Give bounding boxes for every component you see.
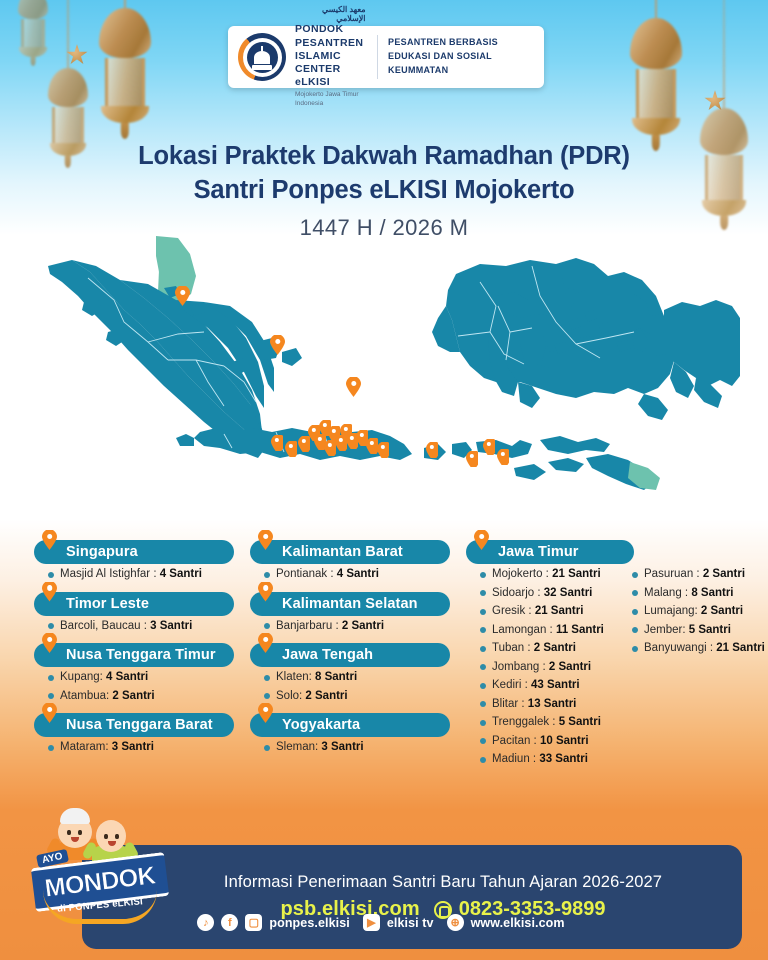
legend-group: Jawa Timur Mojokerto : 21 Santri Sidoarj… bbox=[466, 540, 738, 773]
brand-arabic: معهد الكيسي الإسلامي bbox=[295, 6, 366, 24]
item-label: Tuban : bbox=[492, 642, 534, 654]
item-label: Mojokerto : bbox=[492, 568, 552, 580]
item-label: Masjid Al Istighfar : bbox=[60, 568, 160, 580]
item-value: 13 Santri bbox=[528, 698, 577, 710]
legend-pill-label: Kalimantan Selatan bbox=[282, 596, 418, 612]
map-pin-icon bbox=[42, 703, 57, 723]
item-value: 5 Santri bbox=[689, 624, 731, 636]
item-value: 43 Santri bbox=[531, 679, 580, 691]
item-label: Sidoarjo : bbox=[492, 587, 544, 599]
legend-pill-kalimantan-selatan[interactable]: Kalimantan Selatan bbox=[250, 592, 450, 616]
instagram-handle[interactable]: ponpes.elkisi bbox=[269, 916, 350, 930]
item-label: Banyuwangi : bbox=[644, 642, 716, 654]
legend-group: Kalimantan Selatan Banjarbaru : 2 Santri bbox=[250, 592, 450, 640]
map-pin-jateng-1[interactable] bbox=[271, 435, 283, 451]
item-value: 4 Santri bbox=[337, 568, 379, 580]
map-pin-icon bbox=[42, 633, 57, 653]
jatim-right-list: Pasuruan : 2 Santri Malang : 8 Santri Lu… bbox=[632, 569, 765, 773]
map-pin-ntb-mataram[interactable] bbox=[426, 442, 438, 458]
item-value: 2 Santri bbox=[549, 661, 591, 673]
item-label: Sleman: bbox=[276, 741, 321, 753]
legend-pill-label: Timor Leste bbox=[66, 596, 149, 612]
legend-pill-label: Kalimantan Barat bbox=[282, 544, 403, 560]
youtube-handle[interactable]: elkisi tv bbox=[387, 916, 434, 930]
legend-group: Timor Leste Barcoli, Baucau : 3 Santri bbox=[34, 592, 234, 640]
legend-group: Kalimantan Barat Pontianak : 4 Santri bbox=[250, 540, 450, 588]
list-item: Klaten: 8 Santri bbox=[264, 672, 450, 691]
item-label: Lamongan : bbox=[492, 624, 556, 636]
item-value: 2 Santri bbox=[305, 690, 347, 702]
lantern-decoration bbox=[630, 18, 682, 140]
facebook-icon[interactable]: f bbox=[221, 914, 238, 931]
legend-pill-singapura[interactable]: Singapura bbox=[34, 540, 234, 564]
map-pin-icon bbox=[258, 582, 273, 602]
legend-group: Yogyakarta Sleman: 3 Santri bbox=[250, 713, 450, 761]
list-item: Mataram: 3 Santri bbox=[48, 742, 234, 761]
ayo-mondok-badge[interactable]: MONDOK AYO di PONPES eLKISI bbox=[25, 808, 175, 930]
kid-illustration-girl bbox=[91, 812, 131, 858]
item-value: 11 Santri bbox=[556, 624, 604, 636]
map-landmass bbox=[48, 236, 740, 490]
list-item: Pacitan : 10 Santri bbox=[480, 736, 630, 755]
legend-pill-kalimantan-barat[interactable]: Kalimantan Barat bbox=[250, 540, 450, 564]
star-decoration bbox=[66, 44, 88, 66]
item-value: 3 Santri bbox=[112, 741, 154, 753]
page-title-line1: Lokasi Praktek Dakwah Ramadhan (PDR) bbox=[0, 140, 768, 174]
item-label: Malang : bbox=[644, 587, 691, 599]
item-label: Gresik : bbox=[492, 605, 535, 617]
map-pin-icon bbox=[42, 530, 57, 550]
item-value: 21 Santri bbox=[552, 568, 601, 580]
page-title-line2: Santri Ponpes eLKISI Mojokerto bbox=[0, 174, 768, 208]
map-pin-singapura[interactable] bbox=[175, 286, 190, 306]
legend-column-1: Singapura Masjid Al Istighfar : 4 Santri… bbox=[34, 540, 234, 765]
lantern-decoration bbox=[99, 8, 151, 128]
brand-line1: PONDOK PESANTREN bbox=[295, 23, 366, 49]
item-label: Pontianak : bbox=[276, 568, 337, 580]
list-item: Pasuruan : 2 Santri bbox=[632, 569, 765, 588]
item-label: Klaten: bbox=[276, 671, 315, 683]
map-pin-kalimantan-barat[interactable] bbox=[270, 335, 285, 355]
list-item: Gresik : 21 Santri bbox=[480, 606, 630, 625]
list-item: Sidoarjo : 32 Santri bbox=[480, 588, 630, 607]
item-label: Banjarbaru : bbox=[276, 620, 342, 632]
list-item: Lamongan : 11 Santri bbox=[480, 625, 630, 644]
list-item: Mojokerto : 21 Santri bbox=[480, 569, 630, 588]
item-value: 4 Santri bbox=[160, 568, 202, 580]
item-label: Solo: bbox=[276, 690, 305, 702]
map-pin-icon bbox=[42, 582, 57, 602]
legend-group: Singapura Masjid Al Istighfar : 4 Santri bbox=[34, 540, 234, 588]
legend-group: Nusa Tenggara Barat Mataram: 3 Santri bbox=[34, 713, 234, 761]
item-label: Trenggalek : bbox=[492, 716, 559, 728]
legend-column-3: Jawa Timur Mojokerto : 21 Santri Sidoarj… bbox=[466, 540, 738, 777]
legend-pill-label: Jawa Timur bbox=[498, 544, 579, 560]
list-item: Tuban : 2 Santri bbox=[480, 643, 630, 662]
item-label: Jombang : bbox=[492, 661, 549, 673]
item-label: Blitar : bbox=[492, 698, 528, 710]
title-block: Lokasi Praktek Dakwah Ramadhan (PDR) San… bbox=[0, 140, 768, 241]
divider bbox=[377, 35, 378, 79]
youtube-icon[interactable]: ▶ bbox=[363, 914, 380, 931]
list-item: Banjarbaru : 2 Santri bbox=[264, 621, 450, 640]
legend-pill-jawa-tengah[interactable]: Jawa Tengah bbox=[250, 643, 450, 667]
legend-pill-jawa-timur[interactable]: Jawa Timur bbox=[466, 540, 634, 564]
legend-pill-label: Singapura bbox=[66, 544, 138, 560]
instagram-icon[interactable]: ▢ bbox=[245, 914, 262, 931]
legend-pill-nusa-tenggara-timur[interactable]: Nusa Tenggara Timur bbox=[34, 643, 234, 667]
list-item: Madiun : 33 Santri bbox=[480, 754, 630, 773]
item-value: 33 Santri bbox=[539, 753, 588, 765]
list-item: Jember: 5 Santri bbox=[632, 625, 765, 644]
list-item: Kediri : 43 Santri bbox=[480, 680, 630, 699]
map-pin-icon bbox=[258, 530, 273, 550]
legend-column-2: Kalimantan Barat Pontianak : 4 Santri Ka… bbox=[250, 540, 450, 765]
legend-group: Nusa Tenggara Timur Kupang: 4 Santri Ata… bbox=[34, 643, 234, 709]
globe-icon[interactable]: ⊕ bbox=[447, 914, 464, 931]
list-item: Kupang: 4 Santri bbox=[48, 672, 234, 691]
item-label: Madiun : bbox=[492, 753, 539, 765]
list-item: Jombang : 2 Santri bbox=[480, 662, 630, 681]
item-label: Mataram: bbox=[60, 741, 112, 753]
map-pin-jateng-2[interactable] bbox=[285, 441, 297, 457]
map-pin-kalimantan-selatan[interactable] bbox=[346, 377, 361, 397]
brand-line2: ISLAMIC CENTER eLKISI bbox=[295, 50, 366, 89]
map-pin-banyuwangi[interactable] bbox=[377, 442, 389, 458]
legend-pill-nusa-tenggara-barat[interactable]: Nusa Tenggara Barat bbox=[34, 713, 234, 737]
list-item: Sleman: 3 Santri bbox=[264, 742, 450, 761]
list-item: Atambua: 2 Santri bbox=[48, 691, 234, 710]
legend-pill-label: Yogyakarta bbox=[282, 717, 360, 733]
item-value: 2 Santri bbox=[112, 690, 154, 702]
map-pin-icon bbox=[258, 703, 273, 723]
list-item: Malang : 8 Santri bbox=[632, 588, 765, 607]
list-item: Masjid Al Istighfar : 4 Santri bbox=[48, 569, 234, 588]
legend-pill-label: Jawa Tengah bbox=[282, 647, 373, 663]
elkisi-logo-icon bbox=[238, 33, 286, 81]
footer-info-text: Informasi Penerimaan Santri Baru Tahun A… bbox=[224, 873, 662, 892]
item-label: Pasuruan : bbox=[644, 568, 703, 580]
item-label: Lumajang: bbox=[644, 605, 701, 617]
list-item: Pontianak : 4 Santri bbox=[264, 569, 450, 588]
legend-pill-timor-leste[interactable]: Timor Leste bbox=[34, 592, 234, 616]
item-label: Jember: bbox=[644, 624, 689, 636]
item-label: Kupang: bbox=[60, 671, 106, 683]
item-label: Barcoli, Baucau : bbox=[60, 620, 150, 632]
item-value: 32 Santri bbox=[544, 587, 593, 599]
brand-tagline: PESANTREN BERBASIS EDUKASI DAN SOSIAL KE… bbox=[388, 36, 536, 78]
social-links-row: ♪ f ▢ ponpes.elkisi ▶ elkisi tv ⊕ www.el… bbox=[0, 914, 768, 931]
lantern-decoration bbox=[18, 0, 48, 60]
list-item: Lumajang: 2 Santri bbox=[632, 606, 765, 625]
item-value: 8 Santri bbox=[315, 671, 357, 683]
map-svg bbox=[28, 236, 740, 516]
poster-canvas: معهد الكيسي الإسلامي PONDOK PESANTREN IS… bbox=[0, 0, 768, 960]
item-value: 3 Santri bbox=[150, 620, 192, 632]
legend-pill-label: Nusa Tenggara Timur bbox=[66, 647, 216, 663]
item-value: 21 Santri bbox=[535, 605, 584, 617]
list-item: Banyuwangi : 21 Santri bbox=[632, 643, 765, 662]
footer-info-card: Informasi Penerimaan Santri Baru Tahun A… bbox=[82, 845, 742, 949]
map-pin-ntt-kupang[interactable] bbox=[466, 451, 478, 467]
legend-pill-label: Nusa Tenggara Barat bbox=[66, 717, 213, 733]
legend-pill-yogyakarta[interactable]: Yogyakarta bbox=[250, 713, 450, 737]
website-handle[interactable]: www.elkisi.com bbox=[471, 916, 565, 930]
list-item: Blitar : 13 Santri bbox=[480, 699, 630, 718]
map-pin-icon bbox=[258, 633, 273, 653]
item-value: 10 Santri bbox=[540, 735, 589, 747]
item-value: 4 Santri bbox=[106, 671, 148, 683]
item-label: Kediri : bbox=[492, 679, 531, 691]
map-pin-ntt-atambua[interactable] bbox=[483, 439, 495, 455]
item-value: 2 Santri bbox=[534, 642, 576, 654]
item-value: 2 Santri bbox=[342, 620, 384, 632]
tiktok-icon[interactable]: ♪ bbox=[197, 914, 214, 931]
brand-header: معهد الكيسي الإسلامي PONDOK PESANTREN IS… bbox=[228, 26, 544, 88]
item-value: 2 Santri bbox=[703, 568, 745, 580]
item-value: 5 Santri bbox=[559, 716, 601, 728]
jatim-left-list: Mojokerto : 21 Santri Sidoarjo : 32 Sant… bbox=[480, 569, 630, 773]
item-label: Pacitan : bbox=[492, 735, 540, 747]
brand-subtitle: Mojokerto Jawa Timur Indonesia bbox=[295, 90, 366, 108]
legend-group: Jawa Tengah Klaten: 8 Santri Solo: 2 San… bbox=[250, 643, 450, 709]
item-value: 3 Santri bbox=[321, 741, 363, 753]
item-value: 2 Santri bbox=[701, 605, 743, 617]
map-pin-timor-leste[interactable] bbox=[497, 449, 509, 465]
item-label: Atambua: bbox=[60, 690, 112, 702]
map-pin-icon bbox=[474, 530, 489, 550]
legend-panel: Singapura Masjid Al Istighfar : 4 Santri… bbox=[0, 540, 768, 810]
indonesia-map bbox=[28, 236, 740, 516]
list-item: Barcoli, Baucau : 3 Santri bbox=[48, 621, 234, 640]
item-value: 21 Santri bbox=[716, 642, 765, 654]
list-item: Solo: 2 Santri bbox=[264, 691, 450, 710]
list-item: Trenggalek : 5 Santri bbox=[480, 717, 630, 736]
item-value: 8 Santri bbox=[691, 587, 733, 599]
